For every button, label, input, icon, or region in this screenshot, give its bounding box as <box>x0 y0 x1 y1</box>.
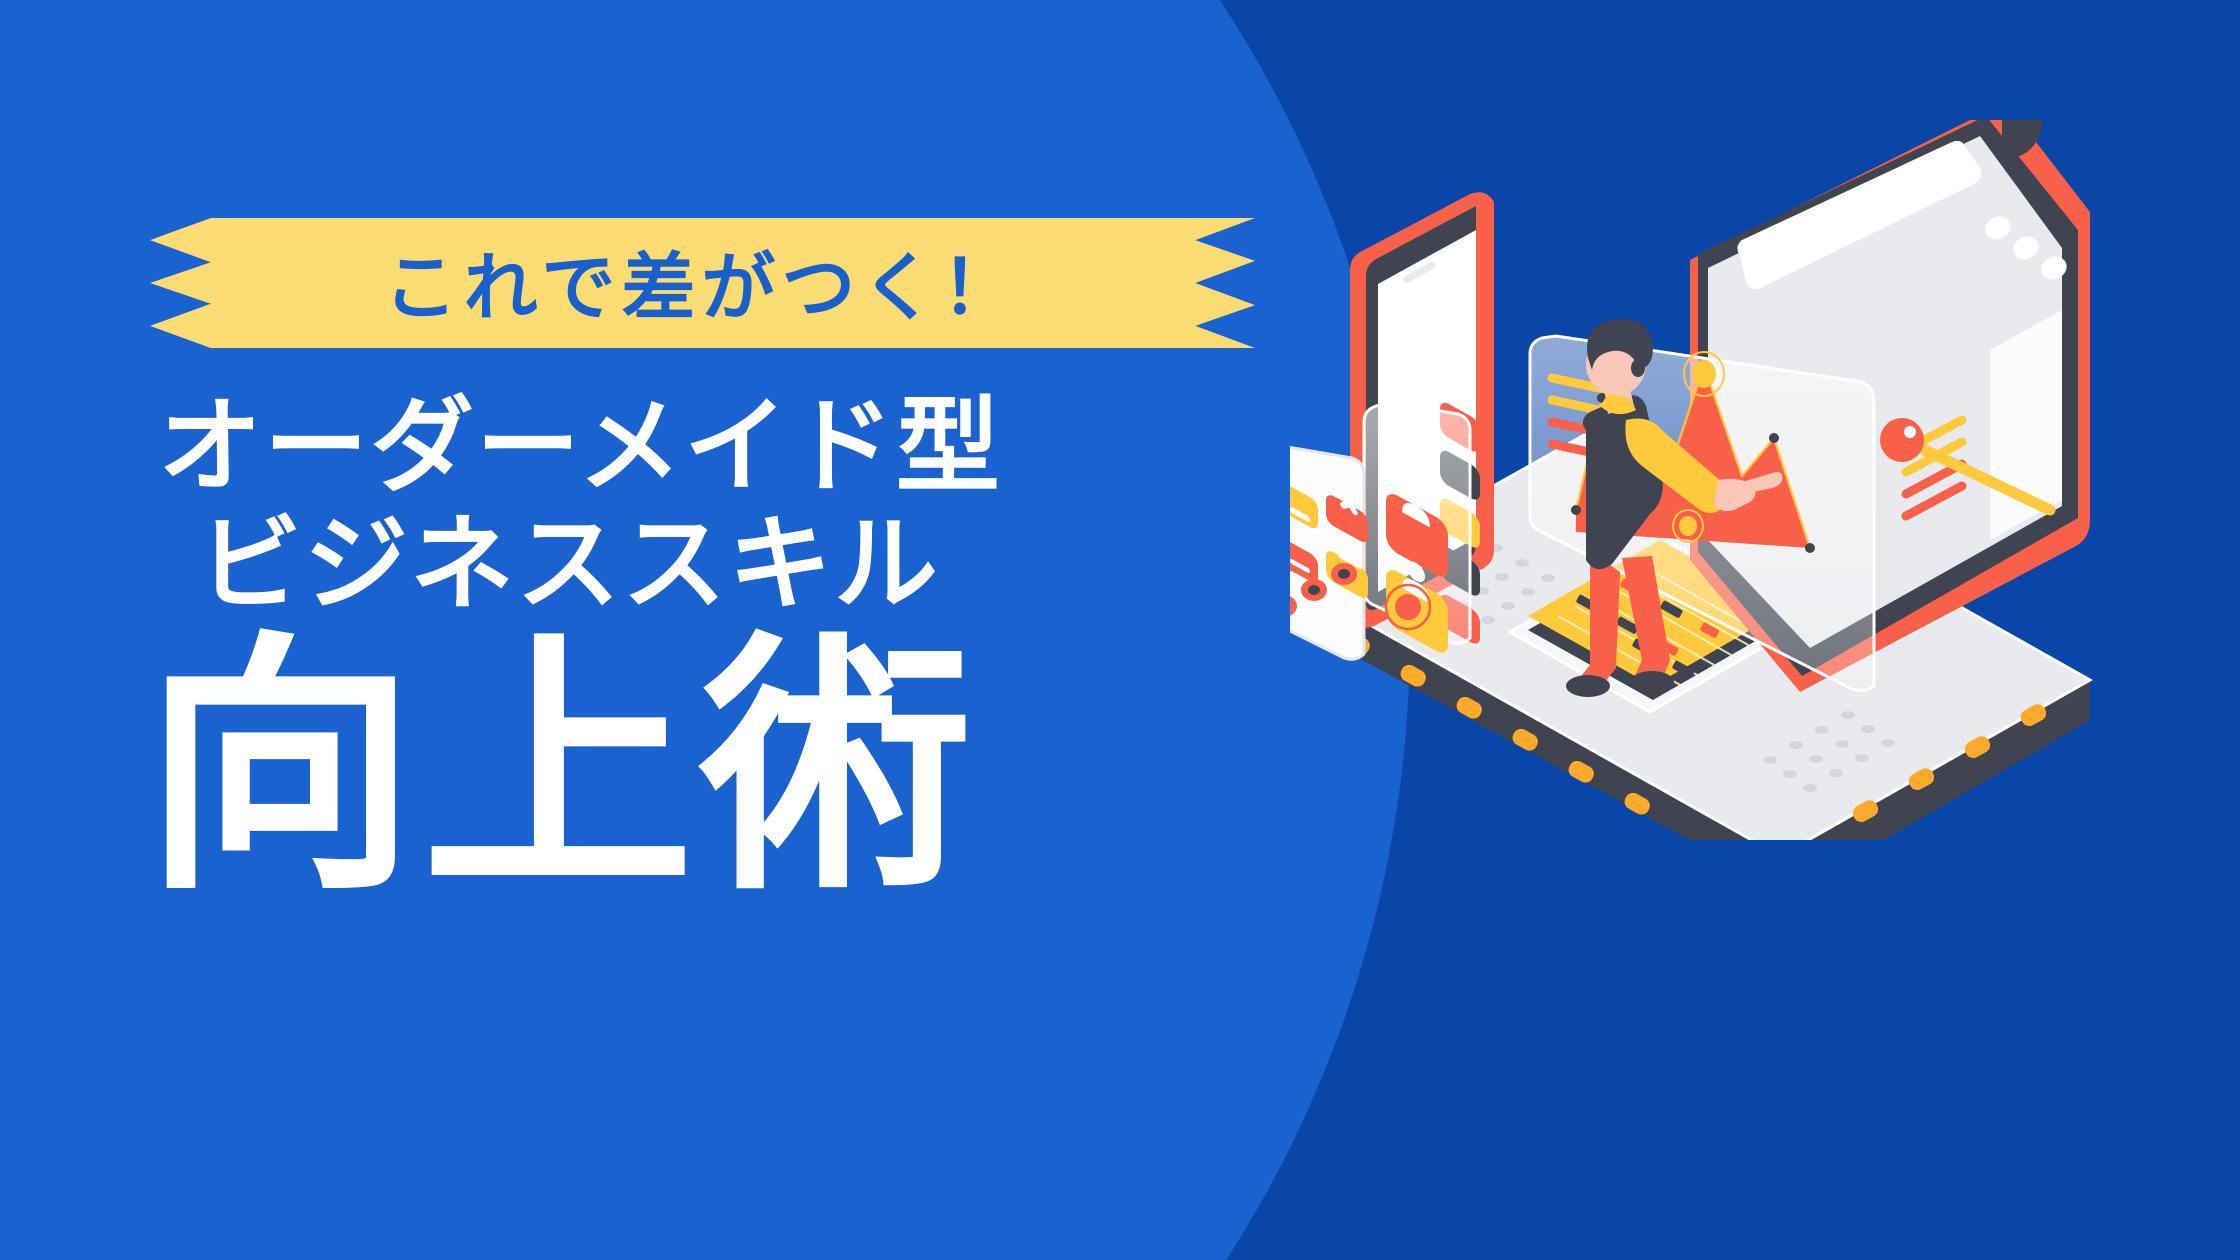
banner-canvas: これで差がつく！ オーダーメイド型 ビジネススキル 向上術 <box>0 0 2240 1260</box>
headline-line-3: 向上術 <box>144 627 1270 910</box>
calculator-panel <box>1290 446 1368 659</box>
pointer-knob-highlight <box>1904 426 1916 438</box>
headline-block: オーダーメイド型 ビジネススキル 向上術 <box>150 395 1270 910</box>
headline-line-1: オーダーメイド型 <box>158 395 1270 499</box>
illustration-svg <box>1290 120 2110 840</box>
person-shoe-back <box>1566 675 1610 697</box>
headline-line-2: ビジネススキル <box>198 513 1270 617</box>
person-shoe-front <box>1630 671 1674 693</box>
pointer-knob <box>1880 418 1924 462</box>
isometric-illustration <box>1290 120 2110 840</box>
person-ear <box>1631 359 1645 377</box>
record-dot <box>1395 594 1421 620</box>
ribbon-label: これで差がつく！ <box>150 218 1255 348</box>
ribbon-banner: これで差がつく！ <box>150 218 1255 348</box>
